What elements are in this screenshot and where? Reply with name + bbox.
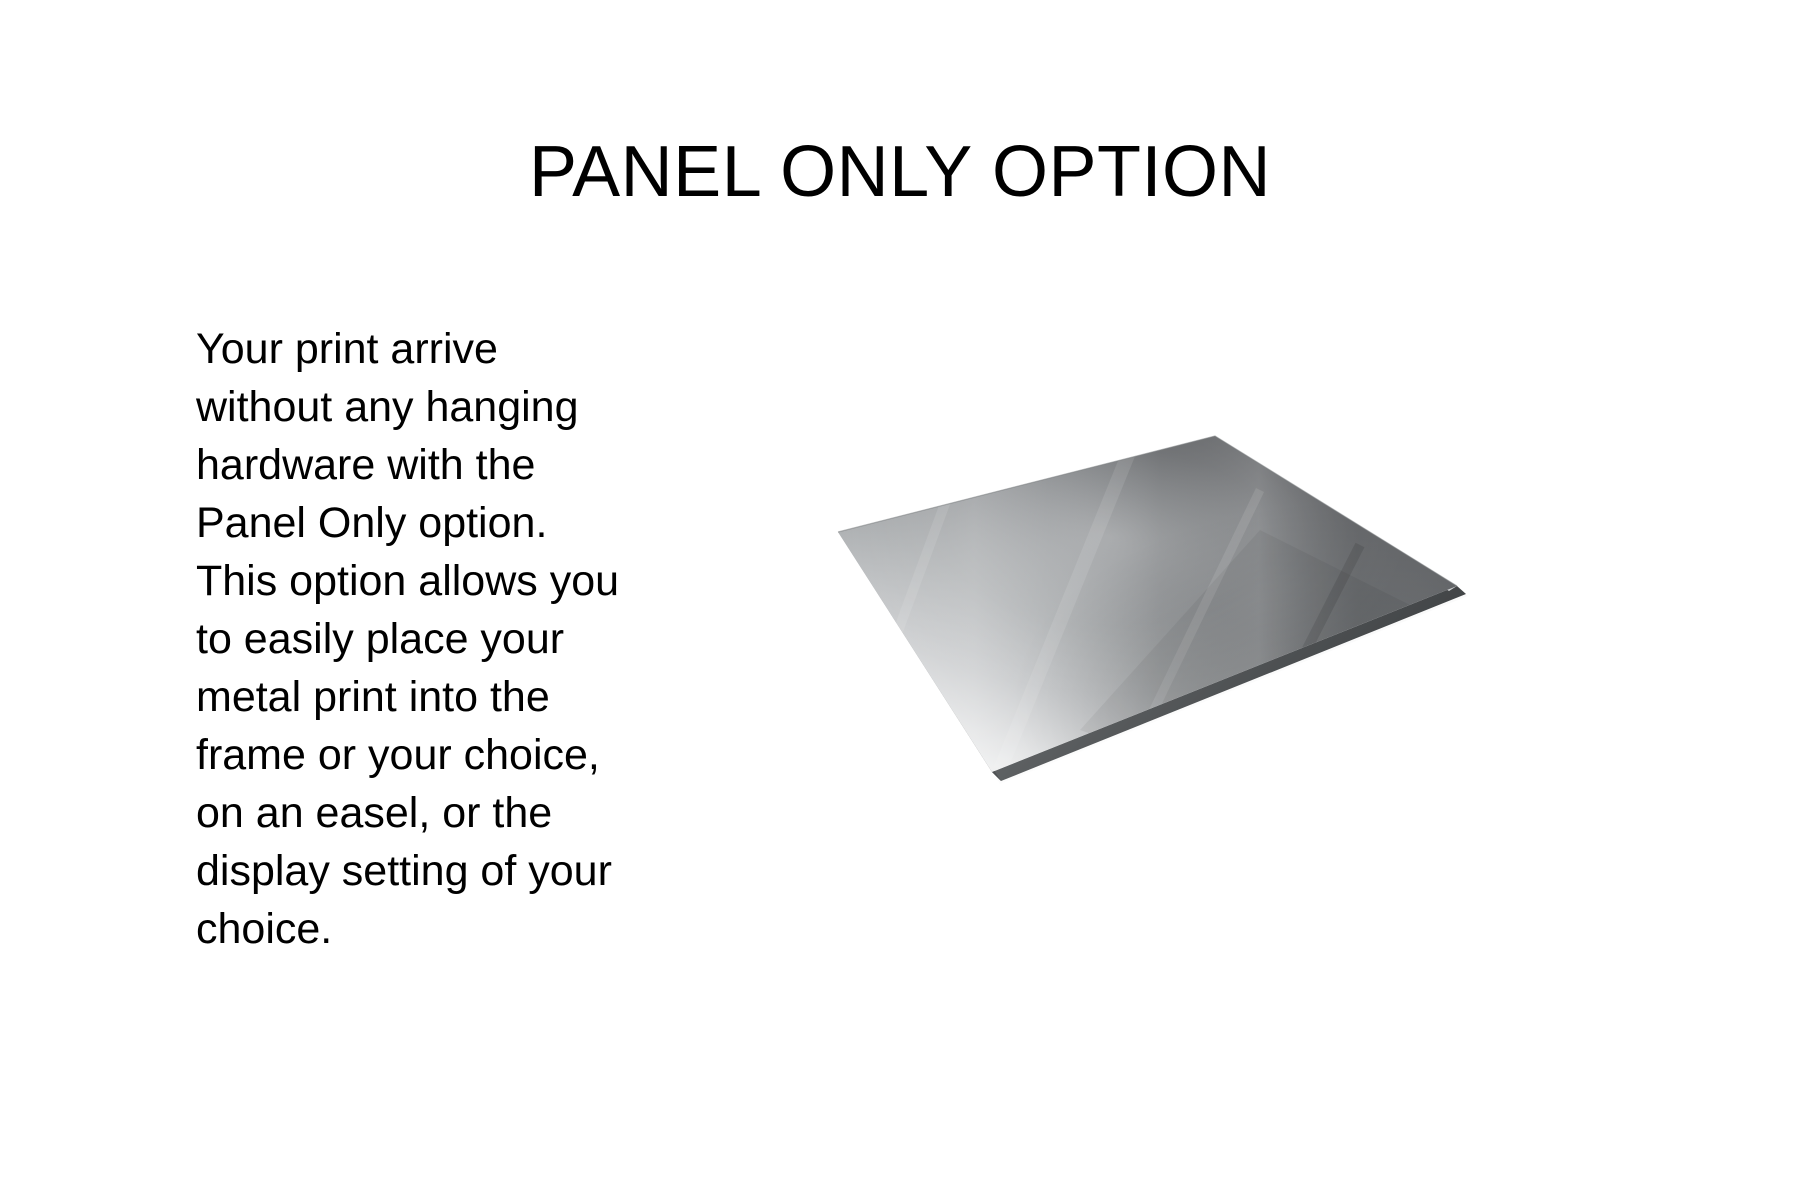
metal-panel-svg [700,350,1540,830]
page-title: PANEL ONLY OPTION [0,136,1800,208]
body-paragraph: Your print arrive without any hanging ha… [196,320,626,958]
metal-panel-figure [700,350,1540,830]
slide-canvas: PANEL ONLY OPTION Your print arrive with… [0,0,1800,1200]
